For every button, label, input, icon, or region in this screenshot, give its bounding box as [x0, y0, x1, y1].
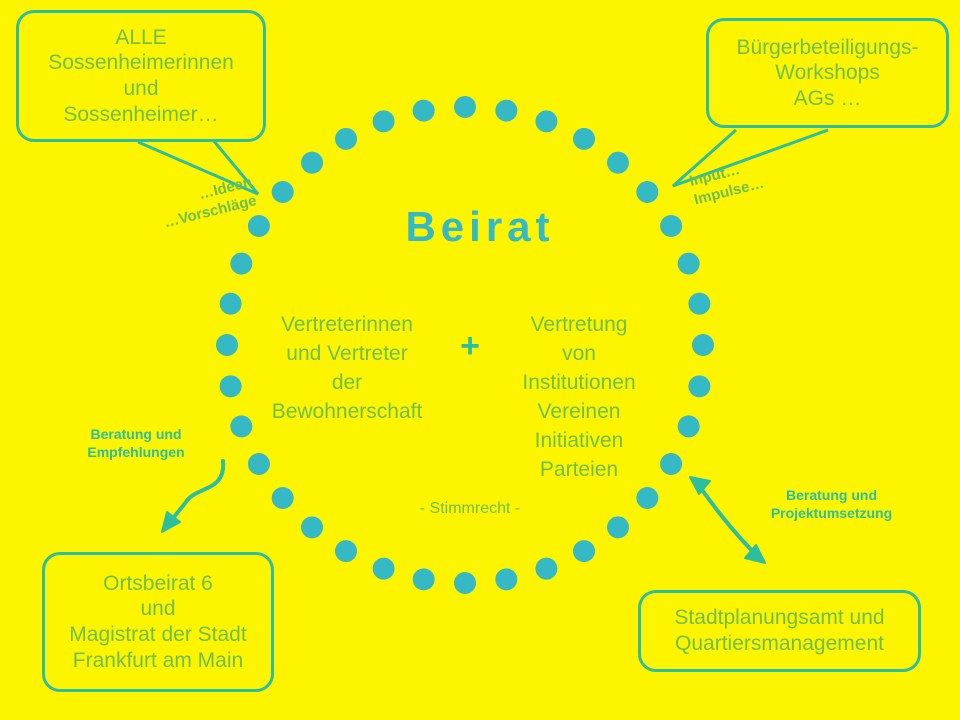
- ring-dot: [248, 453, 270, 475]
- ring-dot: [573, 128, 595, 150]
- ring-dot: [688, 375, 710, 397]
- label-beratung-und-projektumsetzung: Beratung und Projektumsetzung: [744, 486, 919, 523]
- ring-dot: [636, 487, 658, 509]
- bubble-alle-text: ALLE Sossenheimerinnen und Sossenheimer…: [19, 25, 263, 127]
- ring-dot: [220, 375, 242, 397]
- ring-dot: [607, 516, 629, 538]
- center-column-bewohnerschaft: Vertreterinnen und Vertreter der Bewohne…: [259, 311, 435, 427]
- ring-dot: [692, 334, 714, 356]
- ring-dot: [413, 568, 435, 590]
- arrow-beratung-empfehlungen: [166, 461, 223, 527]
- bubble-stadtplanungsamt-text: Stadtplanungsamt und Quartiersmanagement: [641, 605, 918, 656]
- arrowhead-beratung-empfehlungen: [162, 512, 180, 532]
- ring-dot: [373, 558, 395, 580]
- ring-dot: [454, 572, 476, 594]
- ring-dot: [335, 540, 357, 562]
- diagram-canvas: ALLE Sossenheimerinnen und Sossenheimer……: [0, 0, 960, 720]
- bubble-alle-sossenheimer[interactable]: ALLE Sossenheimerinnen und Sossenheimer…: [16, 10, 266, 142]
- ring-dot: [272, 487, 294, 509]
- ring-dot: [678, 253, 700, 275]
- ring-dot: [220, 293, 242, 315]
- ring-dot: [688, 293, 710, 315]
- bubble-buergerbeteiligungs-workshops[interactable]: Bürgerbeteiligungs- Workshops AGs …: [706, 18, 949, 128]
- ring-dot: [373, 110, 395, 132]
- ring-dot: [495, 568, 517, 590]
- ring-dot: [413, 100, 435, 122]
- ring-dot: [216, 334, 238, 356]
- ring-dot: [636, 181, 658, 203]
- center-column-institutionen: Vertretung von Institutionen Vereinen In…: [490, 311, 668, 485]
- ring-dot: [607, 152, 629, 174]
- ring-dot: [535, 558, 557, 580]
- ring-dot: [573, 540, 595, 562]
- bubble-ortsbeirat-magistrat[interactable]: Ortsbeirat 6 und Magistrat der Stadt Fra…: [42, 552, 274, 692]
- ring-dot: [230, 253, 252, 275]
- arrowhead-down-projektumsetzung: [745, 545, 765, 563]
- ring-dot: [535, 110, 557, 132]
- footnote-stimmrecht: - Stimmrecht -: [330, 500, 610, 518]
- ring-dot: [301, 516, 323, 538]
- ring-dot: [301, 152, 323, 174]
- arrowhead-up-projektumsetzung: [690, 477, 710, 494]
- ring-dot: [335, 128, 357, 150]
- bubble-ortsbeirat-text: Ortsbeirat 6 und Magistrat der Stadt Fra…: [45, 571, 271, 673]
- ring-dot: [272, 181, 294, 203]
- bubble-stadtplanungsamt-quartiersmanagement[interactable]: Stadtplanungsamt und Quartiersmanagement: [638, 590, 921, 672]
- ring-dot: [495, 100, 517, 122]
- label-input-impulse: Input… Impulse…: [687, 144, 813, 210]
- ring-dot: [678, 415, 700, 437]
- label-beratung-und-empfehlungen: Beratung und Empfehlungen: [60, 425, 212, 462]
- bubble-workshops-text: Bürgerbeteiligungs- Workshops AGs …: [709, 35, 946, 112]
- ring-dot: [454, 96, 476, 118]
- ring-dot: [230, 415, 252, 437]
